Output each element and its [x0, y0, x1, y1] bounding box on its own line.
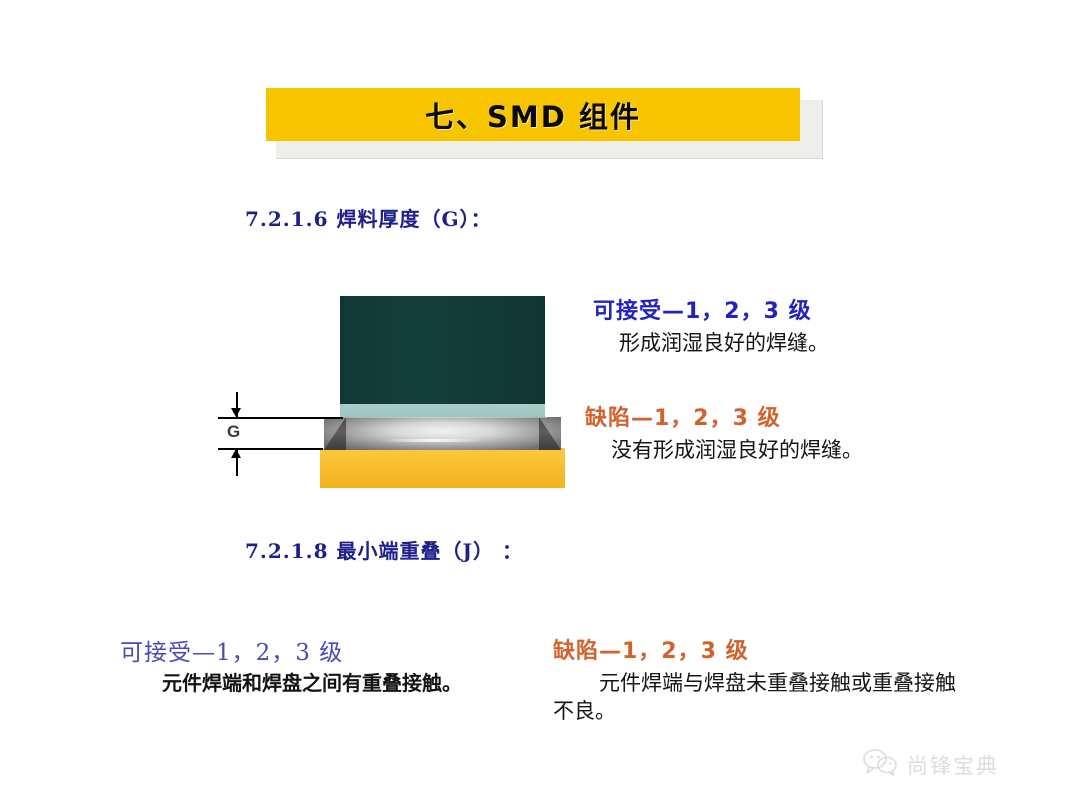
- solder-highlight: [380, 439, 485, 442]
- annotation-head-defect: 缺陷—1，2，3 级: [585, 400, 965, 432]
- annotation-acceptable-end-overlap: 可接受—1，2，3 级 元件焊端和焊盘之间有重叠接触。: [120, 633, 550, 697]
- slide-canvas: 七、SMD 组件 7.2.1.6 焊料厚度（G）： G 可接受—1，2，3 级 …: [0, 0, 1080, 810]
- annotation-head-acceptable-bottom: 可接受—1，2，3 级: [120, 633, 550, 667]
- solder-joint-cross-section-diagram: G: [200, 288, 580, 503]
- arrow-up-icon: [231, 449, 241, 458]
- annotation-desc-acceptable: 形成润湿良好的焊缝。: [619, 329, 953, 357]
- watermark-text: 尚锋宝典: [907, 750, 999, 780]
- section-heading-min-end-overlap: 7.2.1.8 最小端重叠（J） ：: [245, 535, 523, 564]
- page-title: 七、SMD 组件: [425, 94, 641, 136]
- annotation-defect-solder-thickness: 缺陷—1，2，3 级 没有形成润湿良好的焊缝。: [585, 400, 965, 464]
- annotation-desc-defect: 没有形成润湿良好的焊缝。: [611, 436, 965, 464]
- wechat-icon: [862, 748, 898, 781]
- arrow-down-icon: [231, 408, 241, 417]
- component-termination-band: [340, 404, 545, 417]
- banner-bar: 七、SMD 组件: [266, 88, 800, 141]
- title-banner: 七、SMD 组件: [266, 88, 812, 150]
- annotation-defect-end-overlap: 缺陷—1，2，3 级 元件焊端与焊盘未重叠接触或重叠接触不良。: [553, 633, 968, 726]
- annotation-head-defect-bottom: 缺陷—1，2，3 级: [553, 633, 968, 665]
- pcb-pad: [320, 448, 565, 488]
- annotation-head-acceptable: 可接受—1，2，3 级: [593, 293, 953, 325]
- dimension-label-g: G: [227, 422, 240, 442]
- annotation-desc-defect-bottom: 元件焊端与焊盘未重叠接触或重叠接触不良。: [553, 669, 968, 726]
- annotation-desc-acceptable-bottom: 元件焊端和焊盘之间有重叠接触。: [162, 670, 550, 697]
- watermark: 尚锋宝典: [862, 748, 999, 781]
- section-heading-solder-thickness: 7.2.1.6 焊料厚度（G）：: [245, 203, 492, 232]
- annotation-acceptable-solder-thickness: 可接受—1，2，3 级 形成润湿良好的焊缝。: [593, 293, 953, 357]
- component-body: [340, 296, 545, 404]
- solder-fillet: [324, 417, 561, 450]
